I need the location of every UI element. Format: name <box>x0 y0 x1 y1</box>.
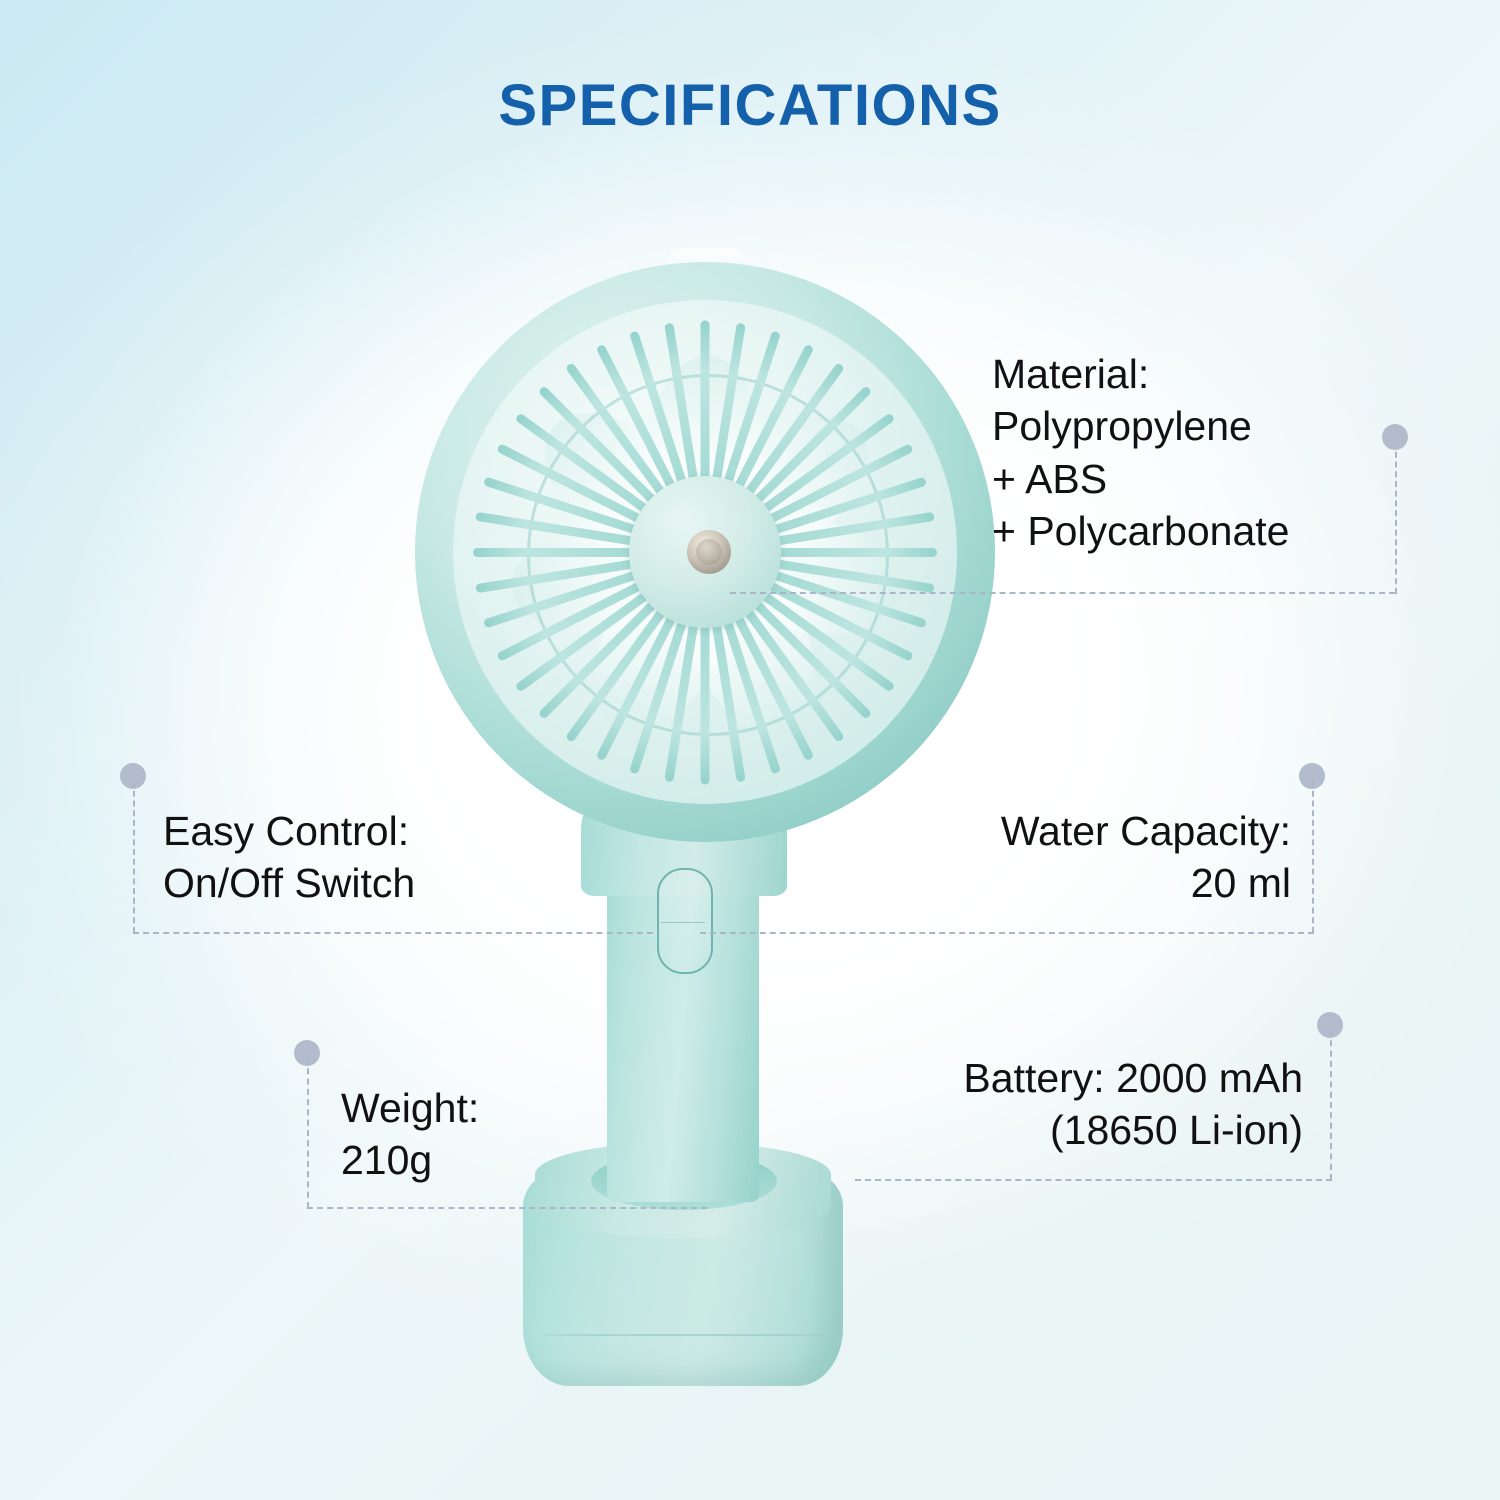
connector-weight-horizontal <box>307 1207 707 1209</box>
callout-weight-line-1: Weight: <box>341 1082 479 1134</box>
callout-easy-control-line-1: Easy Control: <box>163 805 415 857</box>
callout-material-line-2: Polypropylene <box>992 400 1289 452</box>
callout-material: Material: Polypropylene + ABS + Polycarb… <box>992 348 1289 558</box>
on-off-switch-button[interactable] <box>657 868 713 974</box>
connector-battery-vertical <box>1330 1030 1332 1180</box>
callout-battery: Battery: 2000 mAh (18650 Li-ion) <box>833 1052 1303 1157</box>
callout-water-capacity-line-1: Water Capacity: <box>893 805 1291 857</box>
connector-easy-horizontal <box>133 932 653 934</box>
callout-material-line-4: + Polycarbonate <box>992 505 1289 557</box>
specifications-infographic: SPECIFICATIONS <box>0 0 1500 1500</box>
connector-easy-vertical <box>133 781 135 933</box>
callout-weight-line-2: 210g <box>341 1134 479 1186</box>
callout-water-capacity-line-2: 20 ml <box>893 857 1291 909</box>
connector-material-vertical <box>1395 442 1397 594</box>
callout-battery-line-1: Battery: 2000 mAh <box>833 1052 1303 1104</box>
callout-easy-control-line-2: On/Off Switch <box>163 857 415 909</box>
connector-weight-vertical <box>307 1058 309 1208</box>
switch-divider-line <box>661 922 705 923</box>
callout-water-capacity: Water Capacity: 20 ml <box>893 805 1291 910</box>
connector-dot-material <box>1382 424 1408 450</box>
connector-water-vertical <box>1312 781 1314 933</box>
callout-material-line-3: + ABS <box>992 453 1289 505</box>
callout-battery-line-2: (18650 Li-ion) <box>833 1104 1303 1156</box>
callout-material-line-1: Material: <box>992 348 1289 400</box>
base-seam-line <box>541 1334 825 1336</box>
callout-weight: Weight: 210g <box>341 1082 479 1187</box>
connector-battery-horizontal <box>855 1179 1332 1181</box>
connector-material-horizontal <box>730 592 1395 594</box>
connector-water-horizontal <box>700 932 1314 934</box>
page-title: SPECIFICATIONS <box>0 72 1500 139</box>
hub-screw-inner <box>696 539 722 565</box>
callout-easy-control: Easy Control: On/Off Switch <box>163 805 415 910</box>
fan-head <box>415 262 995 842</box>
